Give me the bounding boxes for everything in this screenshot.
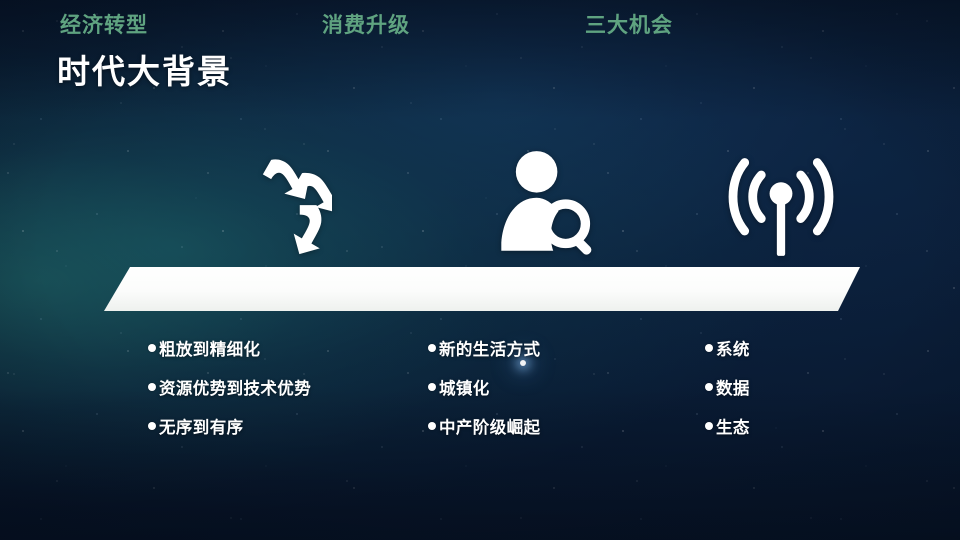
list-item-label: 无序到有序 [159,414,244,438]
bullet-dot-icon [148,383,156,391]
bullet-dot-icon [705,344,713,352]
list-item: 新的生活方式 [428,336,540,360]
list-item: 粗放到精细化 [148,336,311,360]
page-title: 时代大背景 [57,45,232,93]
list-item: 中产阶级崛起 [428,414,540,438]
list-item-label: 粗放到精细化 [159,336,260,360]
list-item-label: 新的生活方式 [439,336,540,360]
bullet-column-1: 粗放到精细化 资源优势到技术优势 无序到有序 [148,336,311,453]
bullet-dot-icon [705,383,713,391]
bullet-dot-icon [705,422,713,430]
list-item: 无序到有序 [148,414,311,438]
recycle-icon [210,140,350,265]
section-banner-ribbon [104,267,860,311]
bullet-dot-icon [148,422,156,430]
slide-canvas: 时代大背景 [0,0,960,540]
bullet-dot-icon [428,344,436,352]
bullet-dot-icon [428,422,436,430]
signal-broadcast-icon [711,140,851,265]
user-search-icon [477,140,617,265]
list-item: 数据 [705,375,750,399]
bullet-dot-icon [148,344,156,352]
list-item: 城镇化 [428,375,540,399]
icon-row [110,140,855,265]
list-item-label: 资源优势到技术优势 [159,375,311,399]
list-item-label: 生态 [716,414,750,438]
list-item-label: 城镇化 [439,375,490,399]
list-item: 资源优势到技术优势 [148,375,311,399]
banner-heading-1: 经济转型 [60,9,148,39]
bullet-dot-icon [428,383,436,391]
bullet-column-3: 系统 数据 生态 [705,336,750,453]
banner-heading-2: 消费升级 [322,9,410,39]
list-item-label: 系统 [716,336,750,360]
bullet-column-2: 新的生活方式 城镇化 中产阶级崛起 [428,336,540,453]
list-item: 生态 [705,414,750,438]
bullet-columns: 粗放到精细化 资源优势到技术优势 无序到有序 新的生活方式 城镇化 [0,336,960,446]
list-item-label: 数据 [716,375,750,399]
list-item: 系统 [705,336,750,360]
banner-heading-3: 三大机会 [585,9,673,39]
list-item-label: 中产阶级崛起 [439,414,540,438]
